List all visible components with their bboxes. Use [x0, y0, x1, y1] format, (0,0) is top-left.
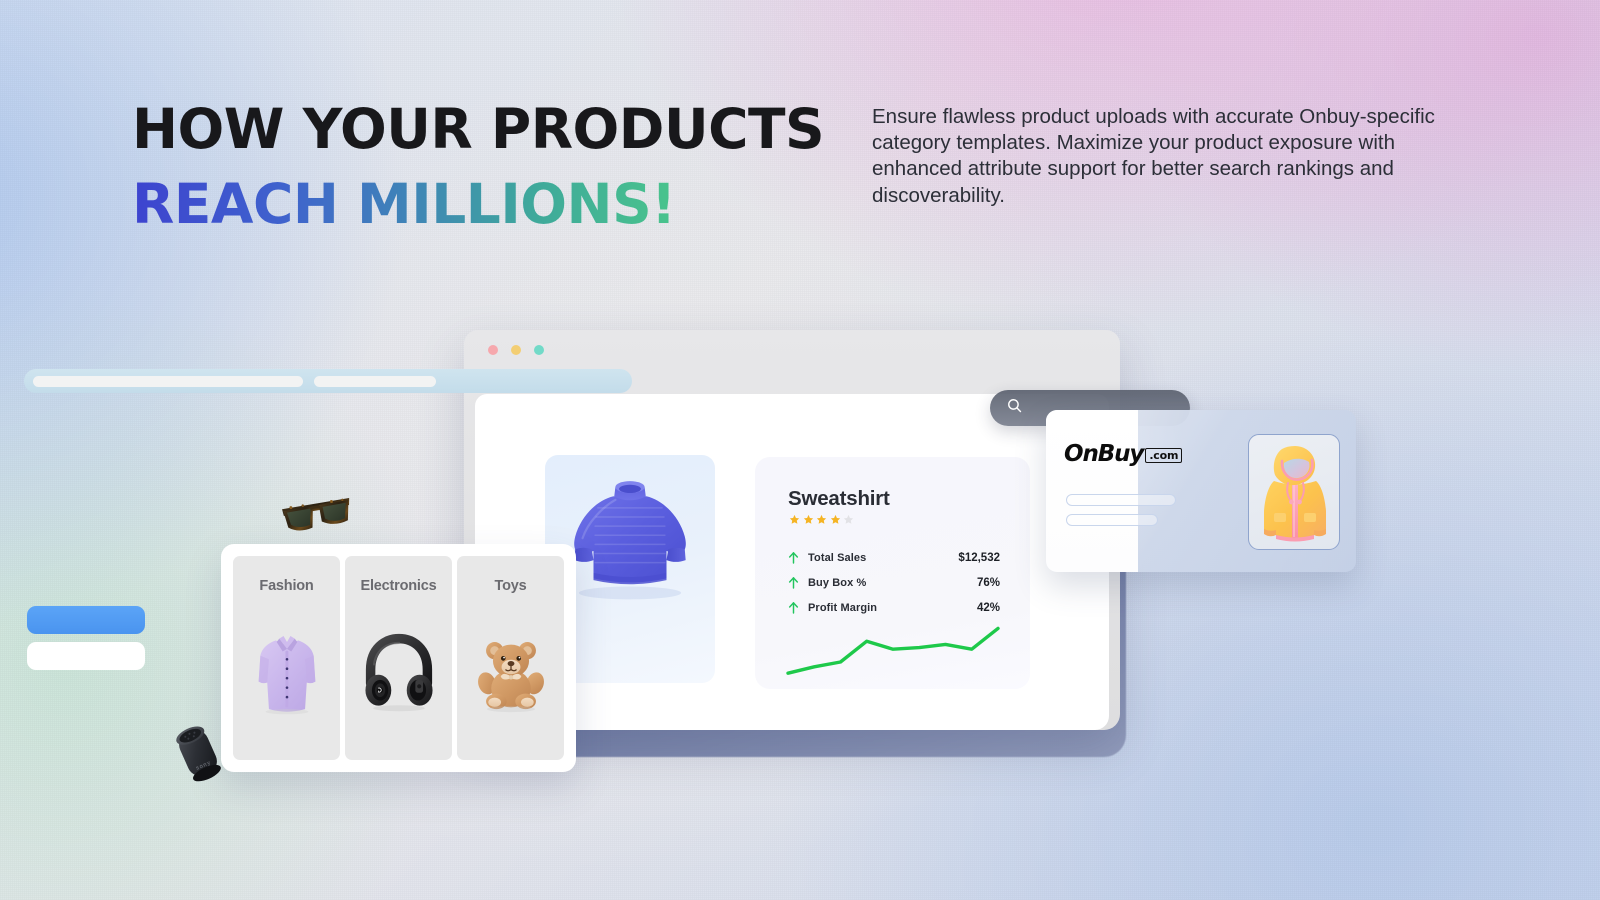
browser-traffic-lights	[488, 345, 544, 355]
category-label: Toys	[457, 578, 564, 594]
headline-line-2: REACH MILLIONS!	[132, 171, 676, 238]
maximize-window-dot[interactable]	[534, 345, 544, 355]
speaker-prop-icon: sony	[172, 722, 224, 784]
address-bar-tab-placeholder	[314, 376, 436, 387]
headline-block: HOW YOUR PRODUCTS REACH MILLIONS!	[132, 96, 824, 237]
browser-address-bar[interactable]	[24, 369, 632, 393]
minimize-window-dot[interactable]	[511, 345, 521, 355]
metric-value: $12,532	[958, 552, 1000, 564]
product-title: Sweatshirt	[788, 487, 890, 511]
star-icon-empty	[843, 514, 854, 525]
headline-line-1: HOW YOUR PRODUCTS	[132, 96, 824, 163]
star-icon-filled	[789, 514, 800, 525]
onbuy-domain-badge: .com	[1145, 448, 1182, 463]
skeleton-line	[1066, 514, 1158, 526]
category-label: Fashion	[233, 578, 340, 594]
arrow-up-icon	[788, 576, 808, 589]
product-stats-card: Sweatshirt Total Sales $12,532	[755, 457, 1030, 689]
metric-value: 76%	[977, 577, 1000, 589]
headphones-image	[356, 630, 442, 716]
metric-label: Profit Margin	[808, 602, 877, 614]
metric-label: Total Sales	[808, 552, 866, 564]
category-card-toys[interactable]: Toys	[457, 556, 564, 760]
onbuy-logo: OnBuy .com	[1064, 441, 1182, 467]
close-window-dot[interactable]	[488, 345, 498, 355]
category-card-electronics[interactable]: Electronics	[345, 556, 452, 760]
skeleton-line	[1066, 494, 1176, 506]
framed-product-thumbnail[interactable]	[1248, 434, 1340, 550]
arrow-up-icon	[788, 551, 808, 564]
category-card-fashion[interactable]: Fashion	[233, 556, 340, 760]
raincoat-image	[1258, 441, 1332, 545]
rating-stars	[789, 514, 854, 525]
star-icon-filled	[816, 514, 827, 525]
metric-row: Total Sales $12,532	[788, 545, 1000, 570]
subcopy-paragraph: Ensure flawless product uploads with acc…	[872, 104, 1472, 209]
dress-shirt-image	[244, 630, 330, 716]
sweatshirt-image	[557, 467, 703, 599]
onbuy-wordmark: OnBuy	[1064, 441, 1143, 467]
metric-label: Buy Box %	[808, 577, 866, 589]
metrics-list: Total Sales $12,532 Buy Box % 76% Profit…	[788, 545, 1000, 620]
onbuy-listing-card: OnBuy .com	[1046, 410, 1356, 572]
arrow-up-icon	[788, 601, 808, 614]
address-bar-url-placeholder	[33, 376, 303, 387]
product-secondary-button[interactable]	[27, 642, 145, 670]
metric-row: Buy Box % 76%	[788, 570, 1000, 595]
metric-value: 42%	[977, 602, 1000, 614]
star-icon-filled	[803, 514, 814, 525]
category-label: Electronics	[345, 578, 452, 594]
search-icon	[1006, 397, 1023, 419]
onbuy-card-left-panel	[1046, 410, 1138, 572]
teddy-bear-image	[468, 630, 554, 716]
star-icon-filled	[830, 514, 841, 525]
sunglasses-prop-icon	[278, 494, 356, 536]
sales-trend-sparkline	[783, 617, 1003, 683]
product-primary-button[interactable]	[27, 606, 145, 634]
category-cards-panel: Fashion Electronics	[221, 544, 576, 772]
